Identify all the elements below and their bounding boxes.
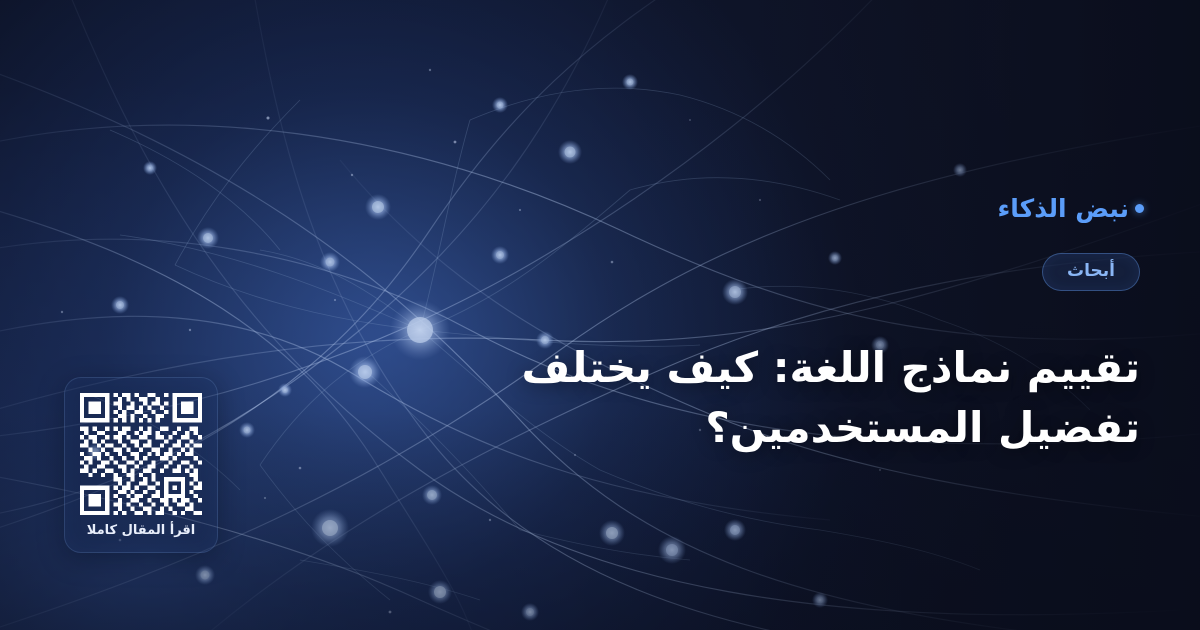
- brand: نبض الذكاء: [997, 196, 1144, 221]
- social-share-card: نبض الذكاء أبحاث تقييم نماذج اللغة: كيف …: [0, 0, 1200, 630]
- qr-card[interactable]: اقرأ المقال كاملا: [64, 377, 218, 553]
- qr-code-icon: [80, 393, 202, 515]
- brand-dot-icon: [1135, 204, 1144, 213]
- article-title: تقييم نماذج اللغة: كيف يختلف تفضيل المست…: [420, 338, 1140, 457]
- qr-caption: اقرأ المقال كاملا: [87, 524, 196, 537]
- brand-name: نبض الذكاء: [997, 196, 1129, 221]
- category-badge[interactable]: أبحاث: [1042, 253, 1140, 291]
